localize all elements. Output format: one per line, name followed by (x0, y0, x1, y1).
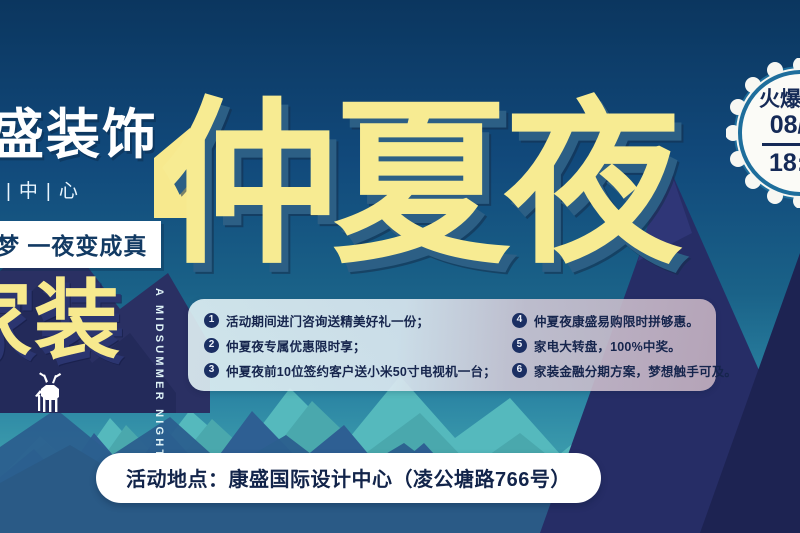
offer-item: 2 仲夏夜专属优惠限时享； (204, 336, 496, 355)
offer-number-badge: 1 (204, 313, 219, 328)
brand-slogan: 家装梦 一夜变成真 (0, 221, 161, 268)
brand-sub-char-1: 計 (0, 181, 1, 202)
offer-item: 6 家装金融分期方案，梦想触手可及。 (512, 361, 737, 380)
main-headline: 仲夏夜 (160, 96, 676, 274)
badge-divider (762, 143, 800, 146)
offer-item: 4 仲夏夜康盛易购限时拼够惠。 (512, 311, 737, 330)
offer-text: 仲夏夜康盛易购限时拼够惠。 (534, 311, 699, 330)
offer-number-badge: 5 (512, 338, 527, 353)
offer-item: 5 家电大转盘，100%中奖。 (512, 336, 737, 355)
brand-sub-char-2: 中 (19, 181, 41, 202)
offer-item: 1 活动期间进门咨询送精美好礼一份； (204, 311, 496, 330)
offer-list-panel: 1 活动期间进门咨询送精美好礼一份； 2 仲夏夜专属优惠限时享； 3 仲夏夜前1… (188, 299, 716, 391)
offer-text: 活动期间进门咨询送精美好礼一份； (226, 311, 429, 330)
offer-number-badge: 6 (512, 363, 527, 378)
offer-text: 家装金融分期方案，梦想触手可及。 (534, 361, 737, 380)
offer-text: 家电大转盘，100%中奖。 (534, 336, 681, 355)
offer-item: 3 仲夏夜前10位签约客户送小米50寸电视机一台； (204, 361, 496, 380)
offer-column-left: 1 活动期间进门咨询送精美好礼一份； 2 仲夏夜专属优惠限时享； 3 仲夏夜前1… (204, 311, 502, 380)
badge-top-label: 火爆开抢 (759, 88, 800, 111)
promotional-poster: 家装 康盛装饰 設|計|中|心 家装梦 一夜变成真 仲夏夜 A MIDSUMME… (0, 0, 800, 533)
venue-address-pill: 活动地点：康盛国际设计中心（凌公塘路766号） (96, 453, 601, 503)
badge-date: 08/20 (770, 111, 800, 140)
offer-text: 仲夏夜专属优惠限时享； (226, 336, 366, 355)
offer-text: 仲夏夜前10位签约客户送小米50寸电视机一台； (226, 361, 496, 380)
brand-sub-char-3: 心 (59, 181, 81, 202)
offer-number-badge: 2 (204, 338, 219, 353)
badge-time: 18:00 (769, 149, 800, 178)
offer-number-badge: 3 (204, 363, 219, 378)
brand-watermark-text: 家装 (0, 278, 122, 364)
offer-column-right: 4 仲夏夜康盛易购限时拼够惠。 5 家电大转盘，100%中奖。 6 家装金融分期… (502, 311, 737, 380)
offer-number-badge: 4 (512, 313, 527, 328)
vertical-english-caption: A MIDSUMMER NIGHT (153, 288, 165, 459)
deer-icon (28, 371, 70, 415)
date-badge: 火爆开抢 08/20 18:00 (726, 58, 800, 208)
